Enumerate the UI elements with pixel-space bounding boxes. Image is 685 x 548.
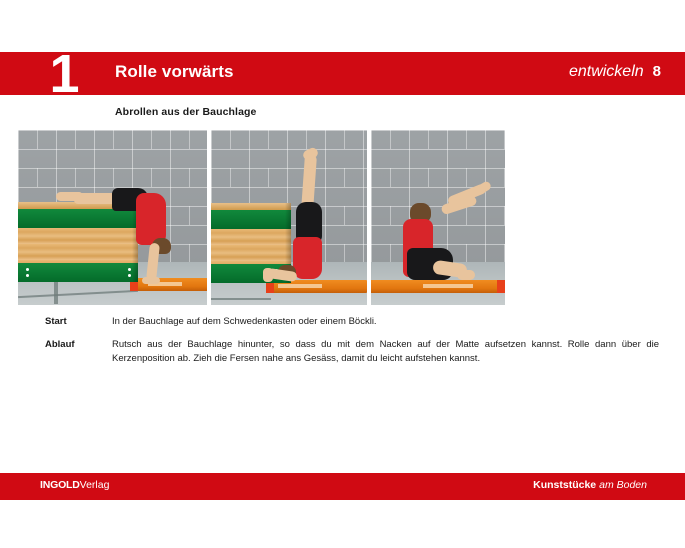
series-label: Kunststückeam Boden: [533, 479, 647, 491]
header-phase-group: entwickeln8: [569, 63, 661, 81]
page-number: 8: [653, 63, 661, 80]
publisher-logo: INGOLDVerlag: [40, 479, 109, 491]
athlete-hand: [263, 268, 273, 282]
instruction-row: Ablauf Rutsch aus der Bauchlage hinunter…: [45, 338, 659, 366]
athlete-hand: [142, 277, 160, 284]
mat-stripe: [423, 284, 473, 288]
photo-panel-nacken: [211, 130, 367, 305]
instruction-row: Start In der Bauchlage auf dem Schwedenk…: [45, 315, 659, 329]
series-name: Kunststücke: [533, 479, 596, 491]
box-green-band: [18, 209, 138, 228]
gym-wall: [371, 130, 505, 262]
athlete-shirt: [293, 237, 322, 279]
instructions-block: Start In der Bauchlage auf dem Schwedenk…: [45, 315, 659, 375]
mat-end-cap: [497, 280, 505, 293]
instruction-text-ablauf: Rutsch aus der Bauchlage hinunter, so da…: [112, 338, 659, 366]
box-latch: [26, 274, 29, 277]
publisher-name-rest: Verlag: [80, 479, 110, 491]
photo-sequence: [18, 130, 505, 305]
box-green-band: [18, 263, 138, 282]
phase-label: entwickeln: [569, 63, 644, 80]
instruction-text-start: In der Bauchlage auf dem Schwedenkasten …: [112, 315, 659, 329]
box-latch: [128, 268, 131, 271]
instruction-label-start: Start: [45, 315, 112, 329]
box-wood-section: [211, 229, 291, 264]
box-green-band: [211, 210, 291, 229]
instruction-label-ablauf: Ablauf: [45, 338, 112, 352]
athlete-feet: [457, 270, 475, 280]
box-latch: [128, 274, 131, 277]
box-latch: [26, 268, 29, 271]
box-wood-section: [18, 228, 138, 263]
exercise-subtitle: Abrollen aus der Bauchlage: [115, 106, 256, 118]
floor-line: [54, 282, 58, 304]
floor-line: [211, 298, 271, 300]
photo-panel-bauchlage: [18, 130, 207, 305]
mat-stripe: [278, 284, 322, 288]
publisher-name-bold: INGOLD: [40, 479, 80, 491]
page-title: Rolle vorwärts: [115, 62, 234, 82]
vaulting-box: [18, 202, 138, 282]
photo-panel-aufstehen: [371, 130, 505, 305]
series-subtitle: am Boden: [599, 479, 647, 491]
exercise-number: 1: [44, 50, 84, 98]
gym-mat: [371, 280, 505, 293]
